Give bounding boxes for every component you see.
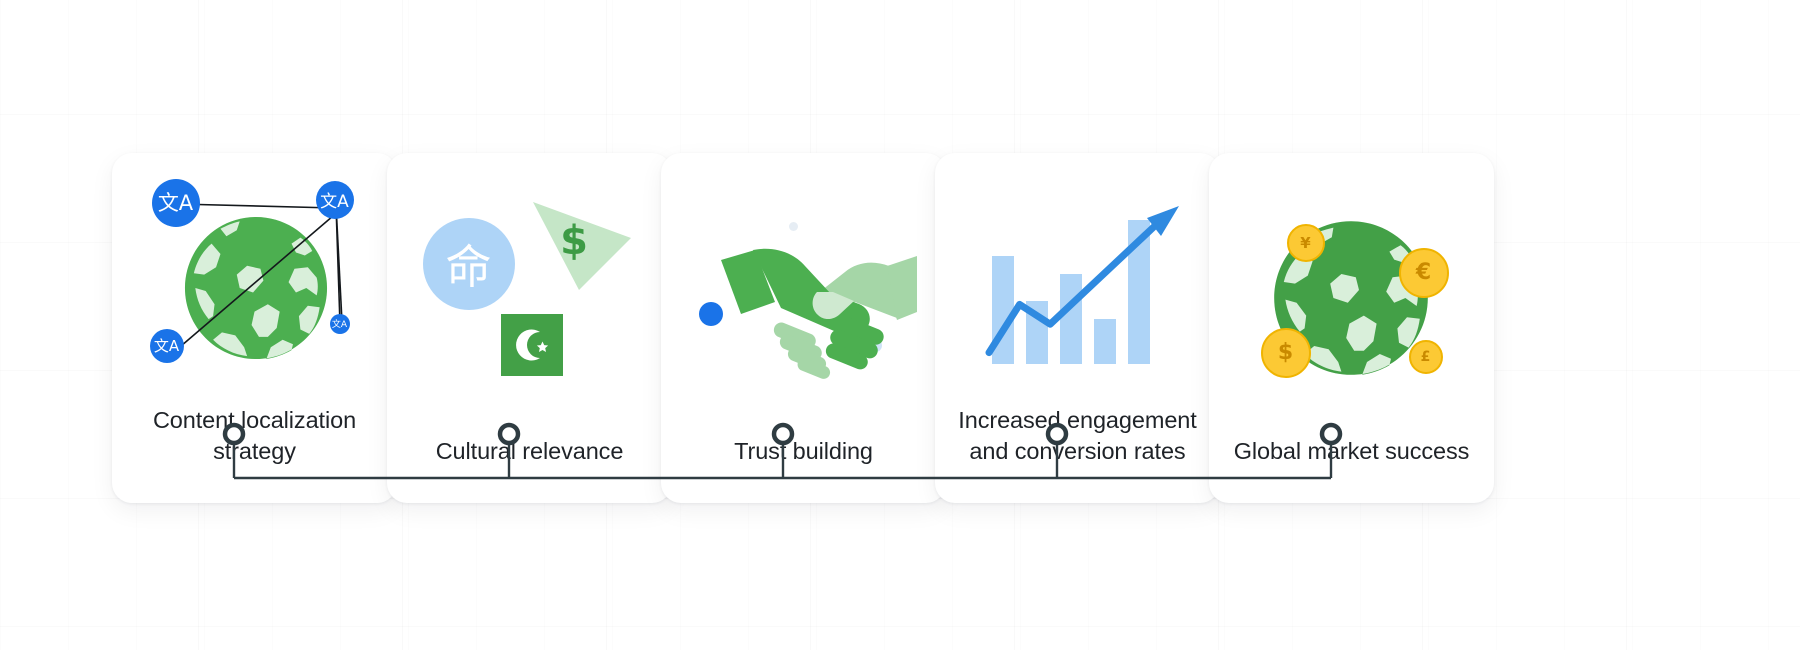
faint-dot-icon: [789, 222, 798, 231]
card-cultural-relevance[interactable]: 命 $ Cultural relevance: [387, 153, 672, 503]
card-label: Cultural relevance: [387, 436, 672, 467]
card-4-illustration: [935, 153, 1220, 405]
chart-bars: [992, 220, 1150, 364]
blue-dot-icon: [699, 302, 723, 326]
card-label: Global market success: [1209, 436, 1494, 467]
crescent-star-glyph: [510, 323, 554, 367]
card-label: Content localization strategy: [112, 405, 397, 467]
card-global-market-success[interactable]: ¥ € $ £ Global market success: [1209, 153, 1494, 503]
card-increased-engagement[interactable]: Increased engagement and conversion rate…: [935, 153, 1220, 503]
translate-icon: 文A: [152, 179, 200, 227]
card-trust-building[interactable]: Trust building: [661, 153, 946, 503]
card-label: Increased engagement and conversion rate…: [935, 405, 1220, 467]
translate-icon: 文A: [316, 181, 354, 219]
diagram-stage: 文A 文A 文A 文A Content localization strateg…: [0, 0, 1800, 650]
svg-text:$: $: [560, 218, 588, 264]
euro-coin-icon: €: [1399, 248, 1449, 298]
growth-chart-icon: [985, 196, 1185, 366]
card-3-illustration: [661, 153, 946, 436]
card-5-illustration: ¥ € $ £: [1209, 153, 1494, 436]
dollar-triangle-icon: $: [527, 198, 639, 298]
card-content-localization-strategy[interactable]: 文A 文A 文A 文A Content localization strateg…: [112, 153, 397, 503]
card-label: Trust building: [661, 436, 946, 467]
translate-icon: 文A: [150, 329, 184, 363]
dollar-coin-icon: $: [1261, 328, 1311, 378]
yen-coin-icon: ¥: [1287, 224, 1325, 262]
card-1-illustration: 文A 文A 文A 文A: [112, 153, 397, 405]
kanji-circle-icon: 命: [423, 218, 515, 310]
chart-bar: [1094, 319, 1116, 364]
pound-coin-icon: £: [1409, 340, 1443, 374]
chart-bar: [1060, 274, 1082, 364]
handshake-icon: [721, 242, 917, 368]
crescent-flag-icon: [501, 314, 563, 376]
card-2-illustration: 命 $: [387, 153, 672, 436]
translate-icon: 文A: [330, 314, 350, 334]
